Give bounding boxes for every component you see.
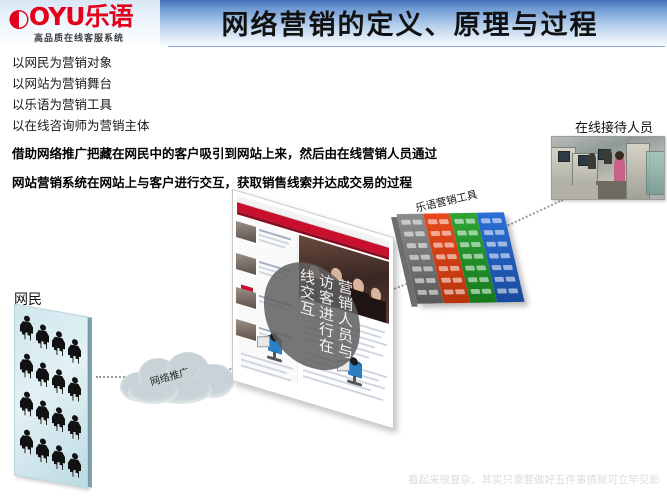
bullet-list: 以网民为营销对象 以网站为营销舞台 以乐语为营销工具 以在线咨询师为营销主体 借… <box>12 52 512 192</box>
footer-note: 看起来很复杂，其实只需要做好五件事情就可立竿见影 <box>395 472 660 488</box>
bullet-item-1: 以网民为营销对象 <box>12 52 512 73</box>
bullet-item-3: 以乐语为营销工具 <box>12 94 512 115</box>
brand-logo: ◐OYU乐语 高品质在线客服系统 <box>8 4 158 46</box>
marketing-tools-panel <box>396 212 524 304</box>
spacer <box>12 136 512 144</box>
bullet-item-2: 以网站为营销舞台 <box>12 73 512 94</box>
header-divider <box>168 46 665 47</box>
logo-wordmark: ◐OYU乐语 <box>8 4 133 30</box>
label-online-staff: 在线接待人员 <box>575 117 653 136</box>
bullet-item-4: 以在线咨询师为营销主体 <box>12 115 512 136</box>
summary-line-1: 借助网络推广把藏在网民中的客户吸引到网站上来，然后由在线营销人员通过 <box>12 144 512 163</box>
logo-tagline: 高品质在线客服系统 <box>34 31 124 44</box>
netizens-panel <box>14 310 94 488</box>
page-title: 网络营销的定义、原理与过程 <box>170 6 650 46</box>
logo-eye-icon: ◐ <box>8 5 29 31</box>
slide-canvas: ◐OYU乐语 高品质在线客服系统 网络营销的定义、原理与过程 以网民为营销对象 … <box>0 0 667 500</box>
netizen-icon-grid <box>18 312 84 482</box>
summary-line-2: 网站营销系统在网站上与客户进行交互，获取销售线索并达成交易的过程 <box>12 173 512 192</box>
spacer <box>12 163 512 173</box>
logo-text: OYU乐语 <box>29 2 133 31</box>
call-center-photo <box>551 136 665 200</box>
